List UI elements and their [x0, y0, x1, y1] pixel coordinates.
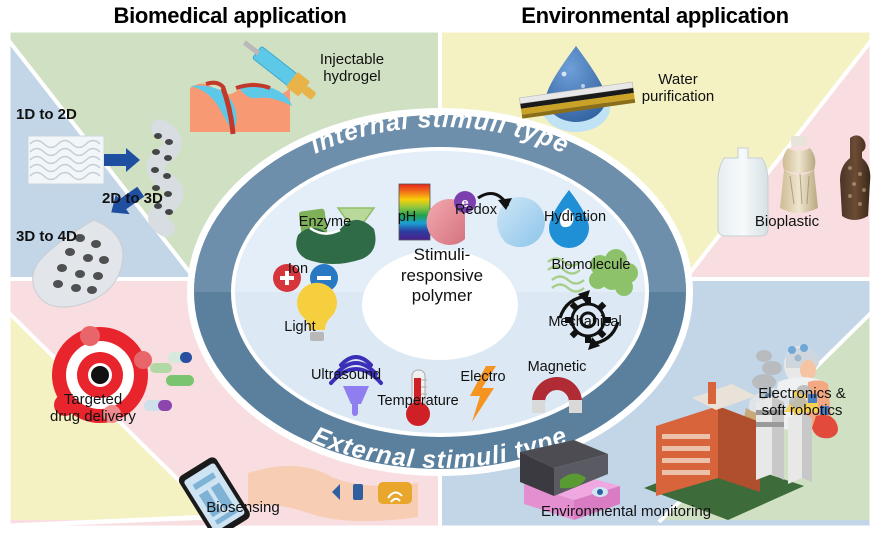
stimulus-label-light: Light: [272, 320, 328, 336]
app-label-biosensing: Biosensing: [178, 500, 308, 517]
stimulus-label-temperature: Temperature: [363, 394, 473, 410]
header-biomedical: Biomedical application: [30, 2, 430, 30]
morph-label-1d-2d: 1D to 2D: [16, 106, 77, 123]
stimulus-label-electro: Electro: [447, 370, 519, 386]
morph-label-2d-3d: 2D to 3D: [102, 190, 163, 207]
app-label-bioplastic: Bioplastic: [735, 214, 839, 231]
app-label-targeted-drug-delivery: Targeted drug delivery: [18, 392, 168, 426]
header-environmental: Environmental application: [450, 2, 860, 30]
stimulus-label-redox: Redox: [437, 203, 515, 219]
app-label-environmental-monitoring: Environmental monitoring: [500, 504, 752, 521]
stimulus-label-hydration: Hydration: [524, 210, 626, 226]
stimulus-label-biomolecule: Biomolecule: [530, 258, 652, 274]
app-label-electronics-soft-robotics: Electronics & soft robotics: [734, 386, 870, 420]
center-label: Stimuli- responsive polymer: [366, 245, 518, 306]
stimulus-label-ion: Ion: [271, 262, 325, 278]
morph-label-3d-4d: 3D to 4D: [16, 228, 77, 245]
stimulus-label-ph: pH: [385, 210, 429, 226]
stimulus-label-magnetic: Magnetic: [514, 360, 600, 376]
app-label-injectable-hydrogel: Injectable hydrogel: [300, 52, 404, 86]
center-label-wrap: Stimuli- responsive polymer: [366, 228, 518, 324]
stimulus-label-ultrasound: Ultrasound: [296, 368, 396, 384]
app-label-water-purification: Water purification: [626, 72, 730, 106]
stimulus-label-enzyme: Enzyme: [283, 215, 367, 231]
stimulus-label-mechanical: Mechanical: [530, 315, 640, 331]
figure-root: Biomedical application Environmental app…: [0, 0, 880, 533]
